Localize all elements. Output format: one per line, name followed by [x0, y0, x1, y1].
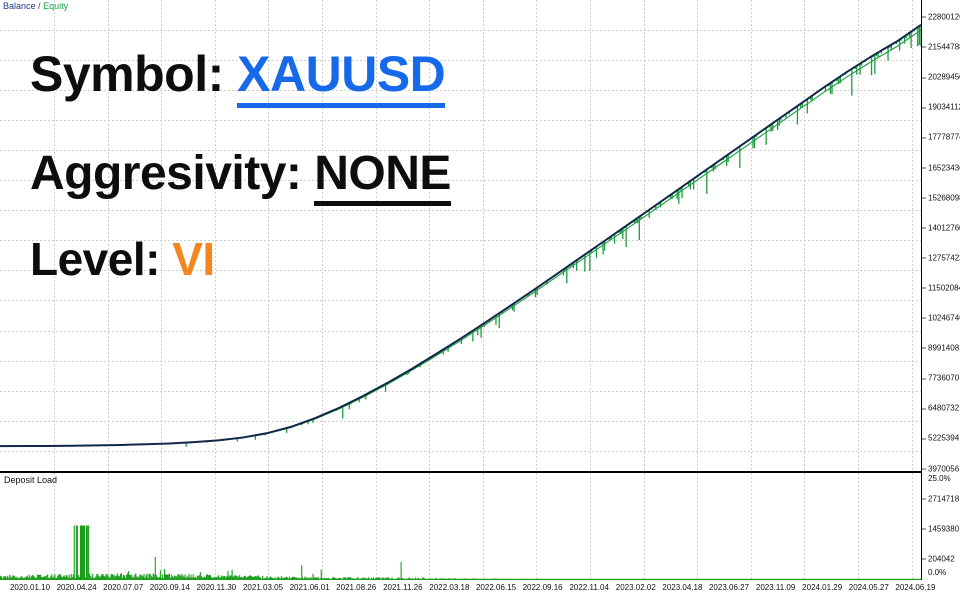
x-axis-tick-label: 2020.09.14: [150, 583, 190, 592]
symbol-label: Symbol:: [30, 46, 224, 102]
y-axis-tick-label: 11502084: [928, 283, 960, 292]
y-axis-tick-label: 7736070: [928, 374, 959, 383]
y-axis-tick: 7736070: [922, 374, 959, 383]
x-axis-tick-label: 2022.09.16: [523, 583, 563, 592]
y-axis-tick: 12757422: [922, 253, 960, 262]
x-axis-tick-label: 2023.11.09: [756, 583, 795, 592]
y-axis-tick-label: 12757422: [928, 253, 960, 262]
deposit-load-panel[interactable]: Deposit Load: [0, 472, 922, 580]
annotation-overlay: Symbol: XAUUSD Aggresivity: NONE Level: …: [30, 48, 451, 283]
y-axis-tick: 17778774: [922, 133, 960, 142]
aggresivity-value: NONE: [314, 147, 451, 206]
x-axis-tick-label: 2021.08.26: [336, 583, 376, 592]
y-axis-tick-label: 22800126: [928, 13, 960, 22]
y-axis-tick: 5225394: [922, 434, 959, 443]
deposit-load-y-tick-label: 0.0%: [928, 568, 946, 577]
chart-legend: Balance / Equity: [3, 1, 68, 12]
annotation-level-line: Level: VI: [30, 235, 451, 283]
y-axis-tick-label: 14012760: [928, 223, 960, 232]
annotation-aggresivity-line: Aggresivity: NONE: [30, 149, 451, 199]
x-axis-tick-label: 2020.11.30: [197, 583, 236, 592]
y-axis-tick: 10246746: [922, 314, 960, 323]
legend-equity-label: Equity: [43, 1, 68, 11]
y-axis-tick: 6480732: [922, 404, 959, 413]
y-axis-tick: 22800126: [922, 13, 960, 22]
strategy-tester-report: Balance / Equity Symbol: XAUUSD Aggresiv…: [0, 0, 960, 600]
y-axis-tick: 15268098: [922, 193, 960, 202]
y-axis-tick-label: 8991408: [928, 344, 959, 353]
level-label: Level:: [30, 233, 160, 285]
y-axis-tick: 11502084: [922, 283, 960, 292]
y-axis-tick-label: 21544788: [928, 43, 960, 52]
level-value: VI: [172, 233, 214, 285]
x-axis-tick-label: 2020.04.24: [57, 583, 97, 592]
y-axis-tick-label: 6480732: [928, 404, 959, 413]
y-axis-tick: 19034112: [922, 103, 960, 112]
balance-equity-chart-panel[interactable]: Balance / Equity Symbol: XAUUSD Aggresiv…: [0, 0, 922, 472]
deposit-load-title: Deposit Load: [4, 475, 57, 485]
y-axis-tick: 16523436: [922, 163, 960, 172]
x-axis-tick-label: 2021.11.26: [383, 583, 422, 592]
deposit-load-y-axis: 25.0%0.0%: [922, 472, 960, 580]
y-axis-tick: 21544788: [922, 43, 960, 52]
y-axis-tick-label: 16523436: [928, 163, 960, 172]
annotation-symbol-line: Symbol: XAUUSD: [30, 48, 451, 101]
deposit-load-bars: [0, 526, 709, 580]
symbol-value: XAUUSD: [237, 46, 445, 108]
y-axis-tick-label: 17778774: [928, 133, 960, 142]
x-axis-tick-label: 2024.05.27: [849, 583, 889, 592]
legend-separator: /: [38, 1, 41, 11]
y-axis-tick-label: 19034112: [928, 103, 960, 112]
x-axis-tick-label: 2023.06.27: [709, 583, 749, 592]
x-axis-tick-label: 2023.02.02: [616, 583, 656, 592]
y-axis-tick: 14012760: [922, 223, 960, 232]
x-axis-tick-label: 2022.11.04: [569, 583, 608, 592]
x-axis-tick-label: 2021.03.05: [243, 583, 283, 592]
x-axis-tick-label: 2023.04.18: [662, 583, 702, 592]
x-axis-tick-label: 2022.06.15: [476, 583, 516, 592]
x-axis-tick-label: 2024.06.19: [895, 583, 935, 592]
aggresivity-label: Aggresivity:: [30, 147, 301, 200]
legend-balance-label: Balance: [3, 1, 36, 11]
x-axis-tick-label: 2022.03.18: [429, 583, 469, 592]
balance-y-axis: 2280012621544788202894501903411217778774…: [922, 0, 960, 472]
x-axis-tick-label: 2020.07.07: [103, 583, 143, 592]
y-axis-tick: 8991408: [922, 344, 959, 353]
y-axis-tick: 20289450: [922, 73, 960, 82]
y-axis-tick-label: 20289450: [928, 73, 960, 82]
y-axis-tick-label: 5225394: [928, 434, 959, 443]
y-axis-tick-label: 10246746: [928, 314, 960, 323]
x-axis-tick-label: 2021.06.01: [290, 583, 330, 592]
x-axis-tick-label: 2024.01.29: [802, 583, 842, 592]
chart-x-axis: 2020.01.102020.04.242020.07.072020.09.14…: [0, 580, 960, 600]
x-axis-tick-label: 2020.01.10: [10, 583, 50, 592]
deposit-load-y-tick-label: 25.0%: [928, 474, 951, 483]
y-axis-tick-label: 15268098: [928, 193, 960, 202]
deposit-load-series: [0, 473, 921, 580]
